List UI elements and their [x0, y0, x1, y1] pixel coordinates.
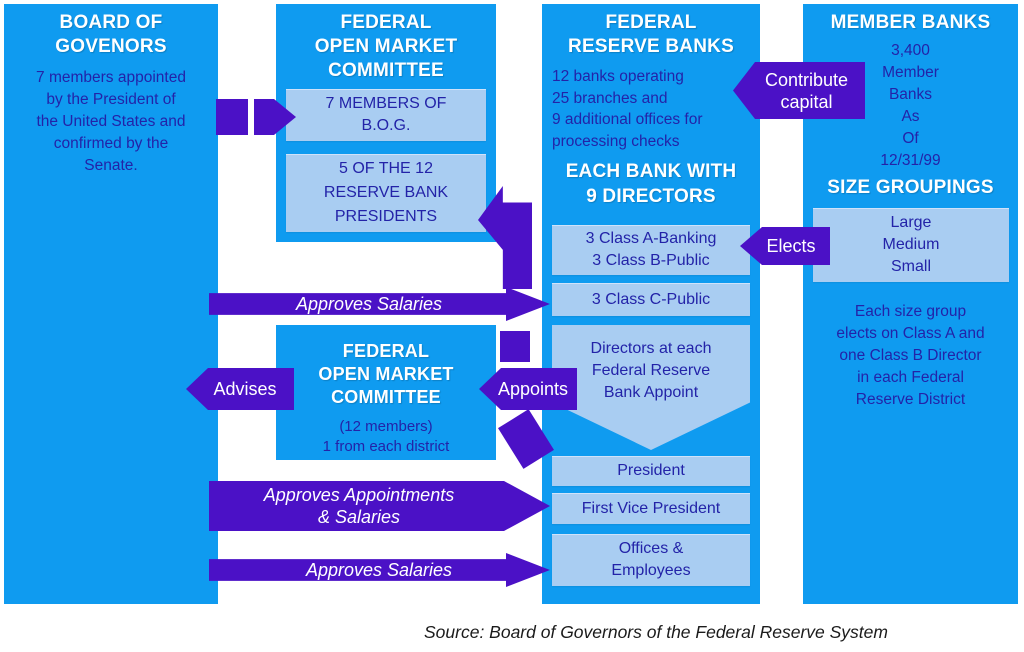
box-line: PRESIDENTS — [324, 205, 448, 229]
connector-contribute-capital-arrow — [733, 62, 865, 119]
connector-approves-appointments-salaries — [209, 481, 550, 531]
panel-title-fomc-bottom: FEDERAL OPEN MARKET COMMITTEE — [276, 340, 496, 409]
connector-approves-salaries-bottom — [209, 553, 550, 587]
connector-advises-arrow — [186, 368, 294, 410]
box-line: Federal Reserve — [552, 360, 750, 382]
body-line: 3,400 — [803, 40, 1018, 62]
footer-line: Reserve District — [806, 389, 1015, 411]
panel-fomc-bottom: FEDERAL OPEN MARKET COMMITTEE (12 member… — [276, 325, 496, 460]
title-line: OPEN MARKET — [276, 363, 496, 386]
subtitle-line: 9 DIRECTORS — [542, 184, 760, 209]
body-line: (12 members) — [276, 417, 496, 437]
title-line: FEDERAL — [276, 340, 496, 363]
box-line: B.O.G. — [326, 115, 447, 137]
title-line: FEDERAL — [542, 11, 760, 35]
source-note: Source: Board of Governors of the Federa… — [424, 622, 1020, 643]
panel-subtitle-each-bank-nine-directors: EACH BANK WITH 9 DIRECTORS — [542, 159, 760, 209]
box-class-a-b-directors: 3 Class A-Banking 3 Class B-Public — [552, 225, 750, 275]
body-line: confirmed by the — [6, 133, 216, 155]
body-line: processing checks — [552, 131, 760, 153]
footer-line: elects on Class A and — [806, 323, 1015, 345]
box-five-of-twelve-presidents: 5 OF THE 12 RESERVE BANK PRESIDENTS — [286, 154, 486, 232]
box-size-groupings: Large Medium Small — [813, 208, 1009, 282]
body-line: 12 banks operating — [552, 66, 760, 88]
body-line: Of — [803, 128, 1018, 150]
connector-appoints-stub — [500, 331, 530, 362]
box-line: President — [617, 462, 685, 480]
title-line: COMMITTEE — [276, 59, 496, 83]
body-line: 12/31/99 — [803, 150, 1018, 172]
box-line: Employees — [611, 560, 690, 582]
footer-line: in each Federal — [806, 367, 1015, 389]
footer-line: one Class B Director — [806, 345, 1015, 367]
body-line: 9 additional offices for — [552, 109, 760, 131]
body-line: Senate. — [6, 155, 216, 177]
box-line: Small — [883, 256, 940, 278]
panel-body-federal-reserve-banks: 12 banks operating 25 branches and 9 add… — [552, 66, 760, 152]
title-line: RESERVE BANKS — [542, 35, 760, 59]
panel-board-of-governors: BOARD OF GOVENORS 7 members appointed by… — [4, 4, 218, 604]
body-line: by the President of — [6, 89, 216, 111]
box-line: RESERVE BANK — [324, 181, 448, 205]
panel-title-fomc-top: FEDERAL OPEN MARKET COMMITTEE — [276, 11, 496, 83]
panel-body-fomc-bottom: (12 members) 1 from each district — [276, 417, 496, 457]
box-line: Large — [883, 212, 940, 234]
box-first-vice-president: First Vice President — [552, 493, 750, 524]
box-directors-appoint: Directors at each Federal Reserve Bank A… — [552, 325, 750, 450]
title-line: MEMBER BANKS — [803, 11, 1018, 35]
connector-approves-salaries-top — [209, 287, 550, 321]
body-line: 25 branches and — [552, 88, 760, 110]
diagram-canvas: BOARD OF GOVENORS 7 members appointed by… — [0, 0, 1024, 652]
connector-bog-to-fomc-stub — [216, 99, 248, 135]
box-line: Medium — [883, 234, 940, 256]
panel-title-board-of-governors: BOARD OF GOVENORS — [4, 11, 218, 59]
box-president: President — [552, 456, 750, 486]
panel-body-board-of-governors: 7 members appointed by the President of … — [6, 67, 216, 177]
panel-title-member-banks: MEMBER BANKS — [803, 11, 1018, 35]
subtitle-line: EACH BANK WITH — [542, 159, 760, 184]
box-line: 3 Class C-Public — [592, 291, 710, 309]
box-seven-members-bog: 7 MEMBERS OF B.O.G. — [286, 89, 486, 141]
title-line: OPEN MARKET — [276, 35, 496, 59]
box-offices-employees: Offices & Employees — [552, 534, 750, 586]
box-line: Directors at each — [552, 338, 750, 360]
box-line: 5 OF THE 12 — [324, 157, 448, 181]
title-line: FEDERAL — [276, 11, 496, 35]
body-line: 1 from each district — [276, 437, 496, 457]
box-class-c-directors: 3 Class C-Public — [552, 283, 750, 316]
panel-fomc-top: FEDERAL OPEN MARKET COMMITTEE 7 MEMBERS … — [276, 4, 496, 242]
box-line: Offices & — [611, 538, 690, 560]
title-line: COMMITTEE — [276, 386, 496, 409]
subtitle-line: SIZE GROUPINGS — [803, 176, 1018, 200]
panel-subtitle-size-groupings: SIZE GROUPINGS — [803, 176, 1018, 200]
panel-title-federal-reserve-banks: FEDERAL RESERVE BANKS — [542, 11, 760, 59]
box-line: 3 Class A-Banking — [586, 228, 717, 250]
title-line: GOVENORS — [4, 35, 218, 59]
panel-footer-member-banks: Each size group elects on Class A and on… — [806, 301, 1015, 411]
body-line: the United States and — [6, 111, 216, 133]
body-line: 7 members appointed — [6, 67, 216, 89]
box-line: First Vice President — [582, 500, 720, 518]
panel-federal-reserve-banks: FEDERAL RESERVE BANKS 12 banks operating… — [542, 4, 760, 604]
title-line: BOARD OF — [4, 11, 218, 35]
box-line: 7 MEMBERS OF — [326, 93, 447, 115]
box-line: 3 Class B-Public — [586, 250, 717, 272]
footer-line: Each size group — [806, 301, 1015, 323]
box-line: Bank Appoint — [552, 382, 750, 404]
